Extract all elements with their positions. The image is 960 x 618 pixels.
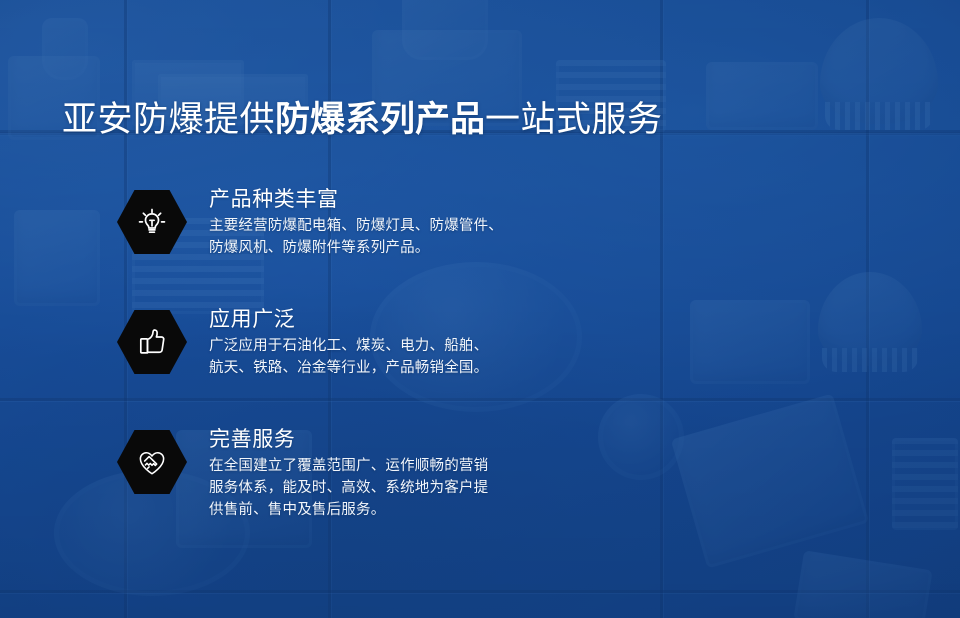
feature-icon-badge [117,190,187,254]
feature-description-line: 供售前、售中及售后服务。 [209,499,677,521]
feature-title: 完善服务 [209,426,677,453]
feature-description-line: 服务体系，能及时、高效、系统地为客户提 [209,477,677,499]
handshake-heart-icon [135,445,169,479]
hexagon-badge [117,430,187,494]
thumbs-up-icon [135,325,169,359]
hexagon-badge [117,310,187,374]
feature-description-line: 广泛应用于石油化工、煤炭、电力、船舶、 [209,335,677,357]
headline-lead: 亚安防爆提供 [62,100,275,139]
feature-title: 产品种类丰富 [209,186,677,213]
feature-description: 在全国建立了覆盖范围广、运作顺畅的营销 服务体系，能及时、高效、系统地为客户提 … [209,455,677,521]
headline-emphasis: 防爆系列产品 [275,100,485,139]
feature-icon-badge [117,430,187,494]
feature-description: 主要经营防爆配电箱、防爆灯具、防爆管件、 防爆风机、防爆附件等系列产品。 [209,215,677,259]
feature-description-line: 航天、铁路、冶金等行业，产品畅销全国。 [209,357,677,379]
hexagon-badge [117,190,187,254]
feature-icon-badge [117,310,187,374]
headline-tail: 一站式服务 [485,100,663,139]
feature-item: 完善服务 在全国建立了覆盖范围广、运作顺畅的营销 服务体系，能及时、高效、系统地… [117,426,677,536]
banner-stage: 亚安防爆提供防爆系列产品一站式服务 [0,0,960,618]
feature-description-line: 主要经营防爆配电箱、防爆灯具、防爆管件、 [209,215,677,237]
feature-item: 产品种类丰富 主要经营防爆配电箱、防爆灯具、防爆管件、 防爆风机、防爆附件等系列… [117,186,677,296]
feature-item: 应用广泛 广泛应用于石油化工、煤炭、电力、船舶、 航天、铁路、冶金等行业，产品畅… [117,306,677,416]
feature-title: 应用广泛 [209,306,677,333]
lightbulb-icon [135,205,169,239]
banner-headline: 亚安防爆提供防爆系列产品一站式服务 [62,98,663,142]
feature-description-line: 在全国建立了覆盖范围广、运作顺畅的营销 [209,455,677,477]
feature-list: 产品种类丰富 主要经营防爆配电箱、防爆灯具、防爆管件、 防爆风机、防爆附件等系列… [117,186,677,536]
feature-description-line: 防爆风机、防爆附件等系列产品。 [209,237,677,259]
feature-text: 产品种类丰富 主要经营防爆配电箱、防爆灯具、防爆管件、 防爆风机、防爆附件等系列… [209,186,677,259]
banner-content: 亚安防爆提供防爆系列产品一站式服务 [0,0,960,618]
feature-text: 完善服务 在全国建立了覆盖范围广、运作顺畅的营销 服务体系，能及时、高效、系统地… [209,426,677,521]
feature-text: 应用广泛 广泛应用于石油化工、煤炭、电力、船舶、 航天、铁路、冶金等行业，产品畅… [209,306,677,379]
feature-description: 广泛应用于石油化工、煤炭、电力、船舶、 航天、铁路、冶金等行业，产品畅销全国。 [209,335,677,379]
